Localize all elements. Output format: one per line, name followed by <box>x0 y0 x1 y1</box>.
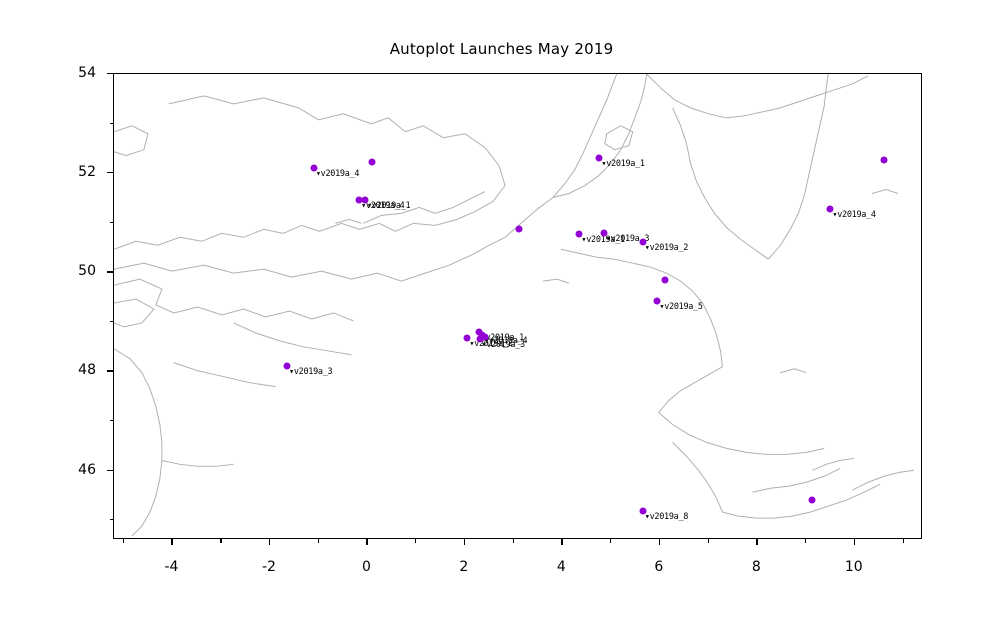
x-axis-tick <box>659 539 660 545</box>
plot-area: ▾v2019a_4▾v2019a_4▾v2019a_1▾v2019a_1▾v20… <box>113 73 922 539</box>
y-axis-tick <box>107 271 113 272</box>
data-point <box>661 276 668 283</box>
y-axis-tick-label: 52 <box>0 164 96 180</box>
x-axis-tick-label: -2 <box>262 559 276 575</box>
data-point <box>881 156 888 163</box>
data-point-label: ▾v2019a_4 <box>832 210 875 220</box>
x-axis-tick-label: 2 <box>459 559 468 575</box>
x-axis-minor-tick <box>805 539 806 543</box>
y-axis-tick <box>107 470 113 471</box>
y-axis-minor-tick <box>110 222 114 223</box>
x-axis-tick <box>171 539 172 545</box>
data-point <box>515 225 522 232</box>
y-axis-minor-tick <box>110 420 114 421</box>
x-axis-tick-label: 4 <box>557 559 566 575</box>
y-axis-minor-tick <box>110 123 114 124</box>
y-axis-minor-tick <box>110 519 114 520</box>
x-axis-tick <box>854 539 855 545</box>
x-axis-tick <box>561 539 562 545</box>
x-axis-minor-tick <box>318 539 319 543</box>
x-axis-minor-tick <box>513 539 514 543</box>
x-axis-tick-label: -4 <box>164 559 178 575</box>
data-point-label: ▾v2019a_4 <box>316 169 359 179</box>
x-axis-minor-tick <box>610 539 611 543</box>
x-axis-tick-label: 6 <box>654 559 663 575</box>
y-axis-minor-tick <box>110 321 114 322</box>
x-axis-tick <box>756 539 757 545</box>
data-point-label: ▾v2019a_1 <box>367 201 410 211</box>
figure-canvas: Autoplot Launches May 2019 <box>0 0 1003 633</box>
coastline-map <box>114 74 921 538</box>
data-point <box>808 497 815 504</box>
x-axis-tick-label: 8 <box>752 559 761 575</box>
y-axis-tick-label: 48 <box>0 362 96 378</box>
data-point-label: ▾v2019a_5 <box>659 302 702 312</box>
x-axis-minor-tick <box>123 539 124 543</box>
x-axis-tick <box>269 539 270 545</box>
data-point <box>482 333 489 340</box>
y-axis-tick <box>107 370 113 371</box>
y-axis-tick <box>107 73 113 74</box>
x-axis-minor-tick <box>415 539 416 543</box>
x-axis-minor-tick <box>903 539 904 543</box>
x-axis-tick-label: 10 <box>845 559 863 575</box>
data-point-label: ▾v2019a_2 <box>645 243 688 253</box>
data-point-label: ▾v2019a_3 <box>289 367 332 377</box>
y-axis-tick-label: 46 <box>0 462 96 478</box>
x-axis-tick <box>366 539 367 545</box>
y-axis-tick <box>107 172 113 173</box>
x-axis-minor-tick <box>220 539 221 543</box>
x-axis-tick-label: 0 <box>362 559 371 575</box>
x-axis-tick <box>464 539 465 545</box>
data-point <box>369 159 376 166</box>
data-point-label: ▾v2019a_3 <box>482 340 525 350</box>
chart-title: Autoplot Launches May 2019 <box>0 40 1003 58</box>
y-axis-tick-label: 54 <box>0 65 96 81</box>
y-axis-tick-label: 50 <box>0 263 96 279</box>
x-axis-minor-tick <box>708 539 709 543</box>
data-point-label: ▾v2019a_1 <box>601 159 644 169</box>
data-point-label: ▾v2019a_8 <box>645 512 688 522</box>
